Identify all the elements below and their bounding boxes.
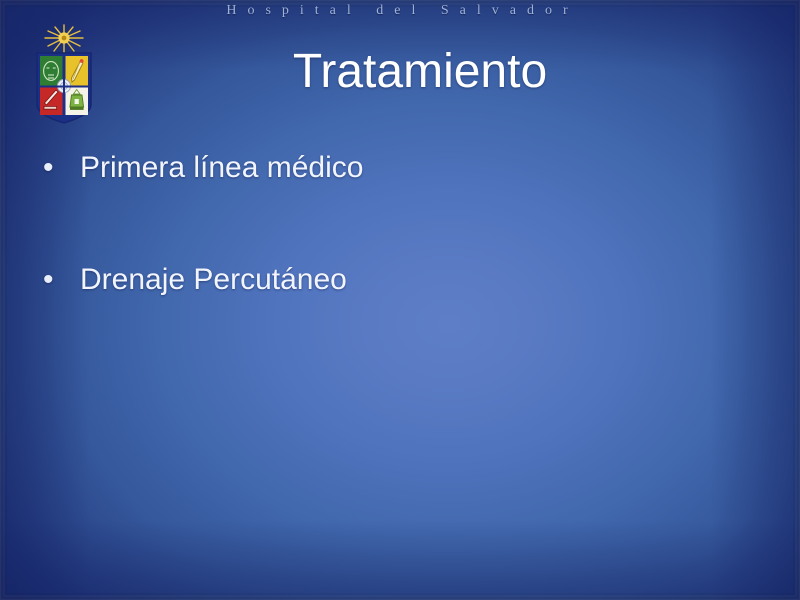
universidad-de-chile-crest-icon <box>33 22 95 126</box>
bullet-item: • Primera línea médico <box>36 146 756 190</box>
bullet-marker-icon: • <box>36 258 80 302</box>
bullet-text: Primera línea médico <box>80 146 756 190</box>
crest-quadrant-quill <box>40 87 63 115</box>
bullet-marker-icon: • <box>36 146 80 190</box>
slide-bullet-list: • Primera línea médico • Drenaje Percutá… <box>36 146 756 370</box>
slide-header-band: Hospital del Salvador <box>0 0 800 26</box>
sun-center-dot <box>62 36 67 41</box>
slide-title: Tratamiento <box>120 44 720 99</box>
bullet-item: • Drenaje Percutáneo <box>36 258 756 302</box>
shield-body <box>37 53 91 123</box>
bullet-text: Drenaje Percutáneo <box>80 258 756 302</box>
institution-name: Hospital del Salvador <box>95 3 710 19</box>
presentation-slide: Hospital del Salvador <box>0 0 800 600</box>
